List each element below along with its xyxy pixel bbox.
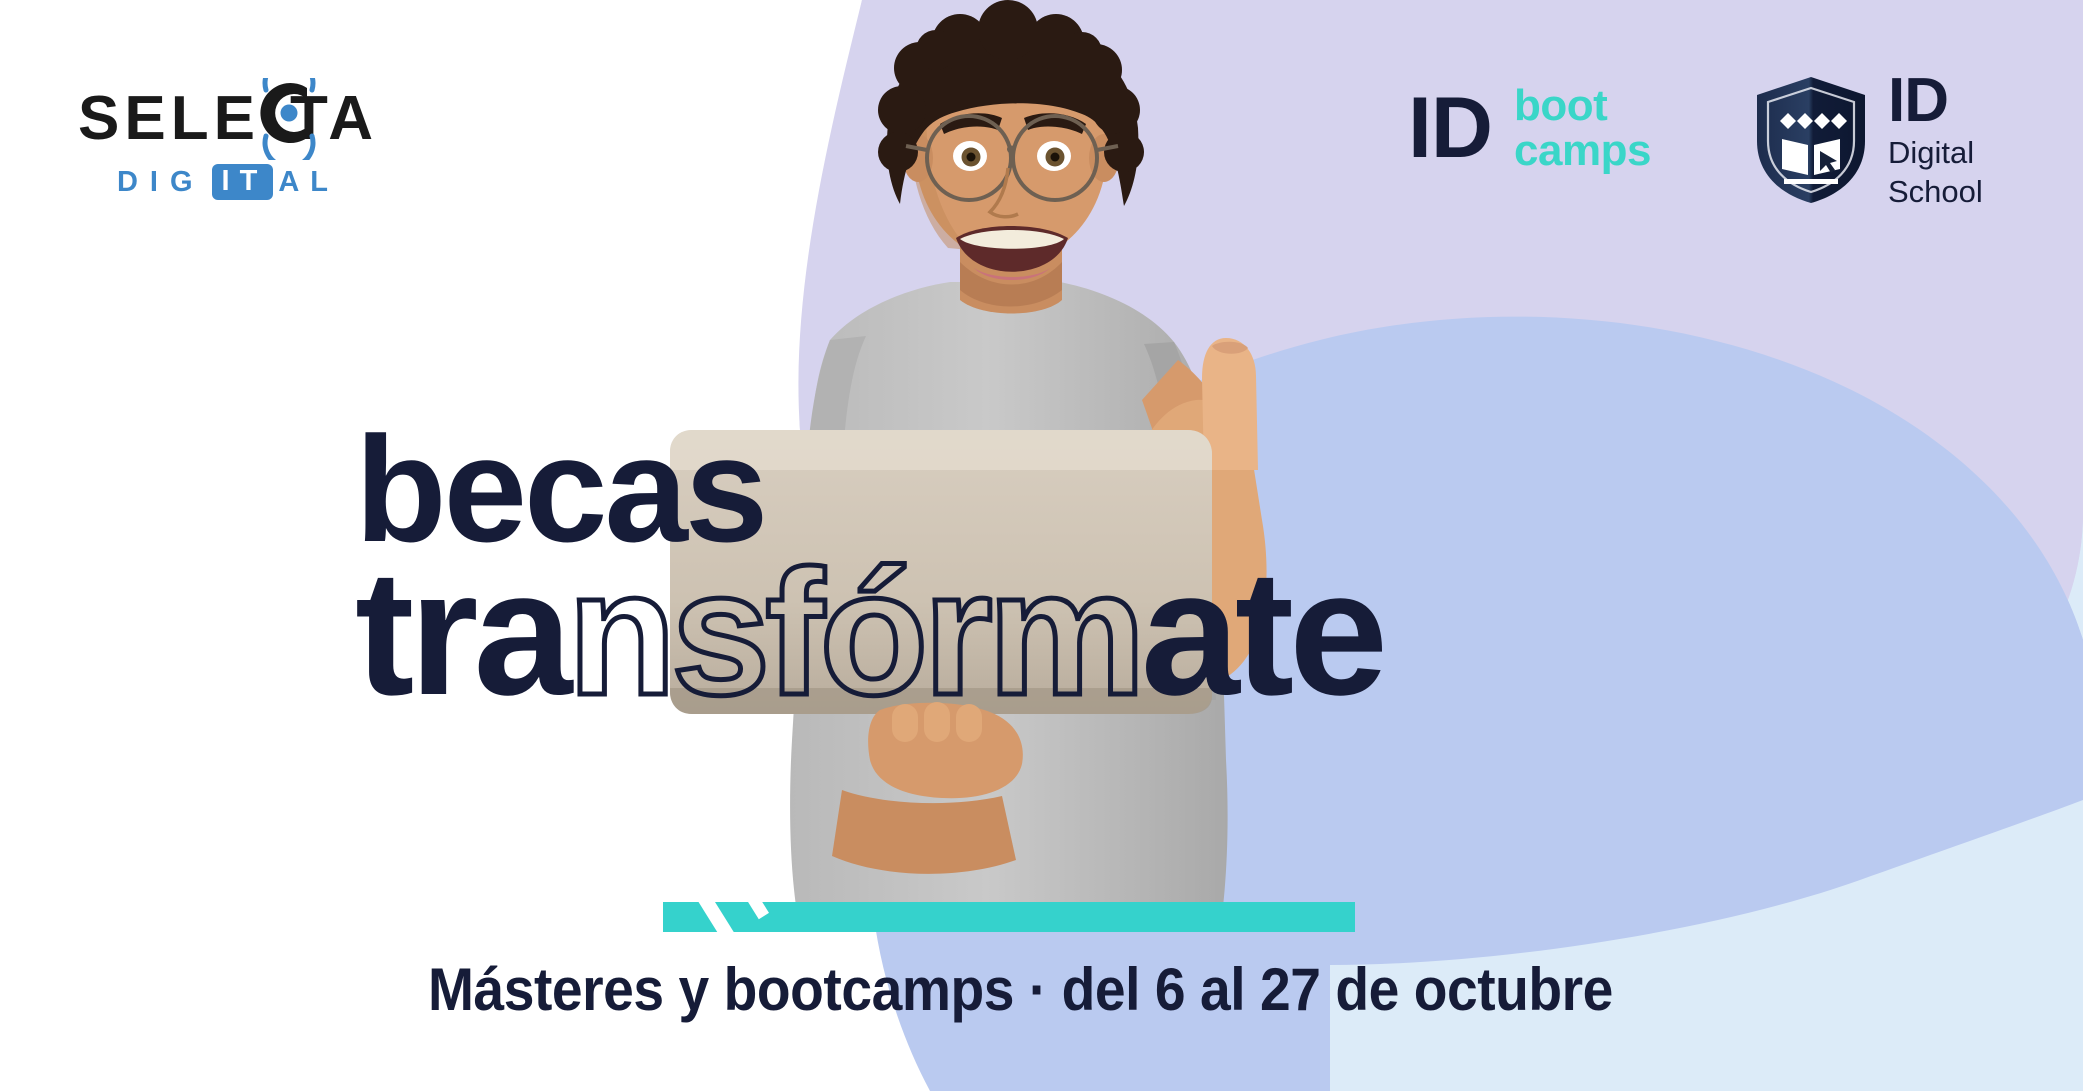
pupil-left [967, 153, 976, 162]
id-school-school-text: School [1888, 175, 1983, 210]
shield-icon [1752, 75, 1870, 205]
teal-accent-bar [663, 902, 1355, 932]
bootcamps-words: boot camps [1514, 84, 1651, 174]
laptop [670, 430, 1212, 714]
id-school-id-text: ID [1888, 70, 1983, 132]
presenter-photo [630, 0, 1390, 930]
bootcamps-line-camps: camps [1514, 129, 1651, 174]
bootcamps-id-text: ID [1408, 90, 1492, 167]
id-bootcamps-logo[interactable]: ID boot camps [1408, 84, 1651, 174]
selecta-digital-logo[interactable]: SELE TA DIG IT AL [78, 88, 378, 200]
subtitle-text: Másteres y bootcamps · del 6 al 27 de oc… [428, 955, 1613, 1024]
selecta-it-highlight: IT [212, 164, 274, 200]
id-school-text: ID Digital School [1888, 70, 1983, 209]
selecta-text-part1: SELE [78, 88, 260, 150]
selecta-al-letters: AL [278, 168, 339, 197]
promotional-banner: SELE TA DIG IT AL ID boot camps [0, 0, 2083, 1091]
selecta-wordmark: SELE TA [78, 88, 378, 150]
id-school-digital-text: Digital [1888, 136, 1983, 171]
holding-fingers [892, 702, 982, 742]
selecta-dig-letters: DIG [117, 168, 205, 197]
bootcamps-line-boot: boot [1514, 84, 1651, 129]
laptop-edge-highlight [670, 430, 1212, 470]
selecta-c-with-dot-icon [260, 88, 290, 150]
id-digital-school-logo[interactable]: ID Digital School [1752, 70, 1983, 209]
selecta-digital-wordmark: DIG IT AL [78, 164, 378, 200]
pupil-right [1051, 153, 1060, 162]
